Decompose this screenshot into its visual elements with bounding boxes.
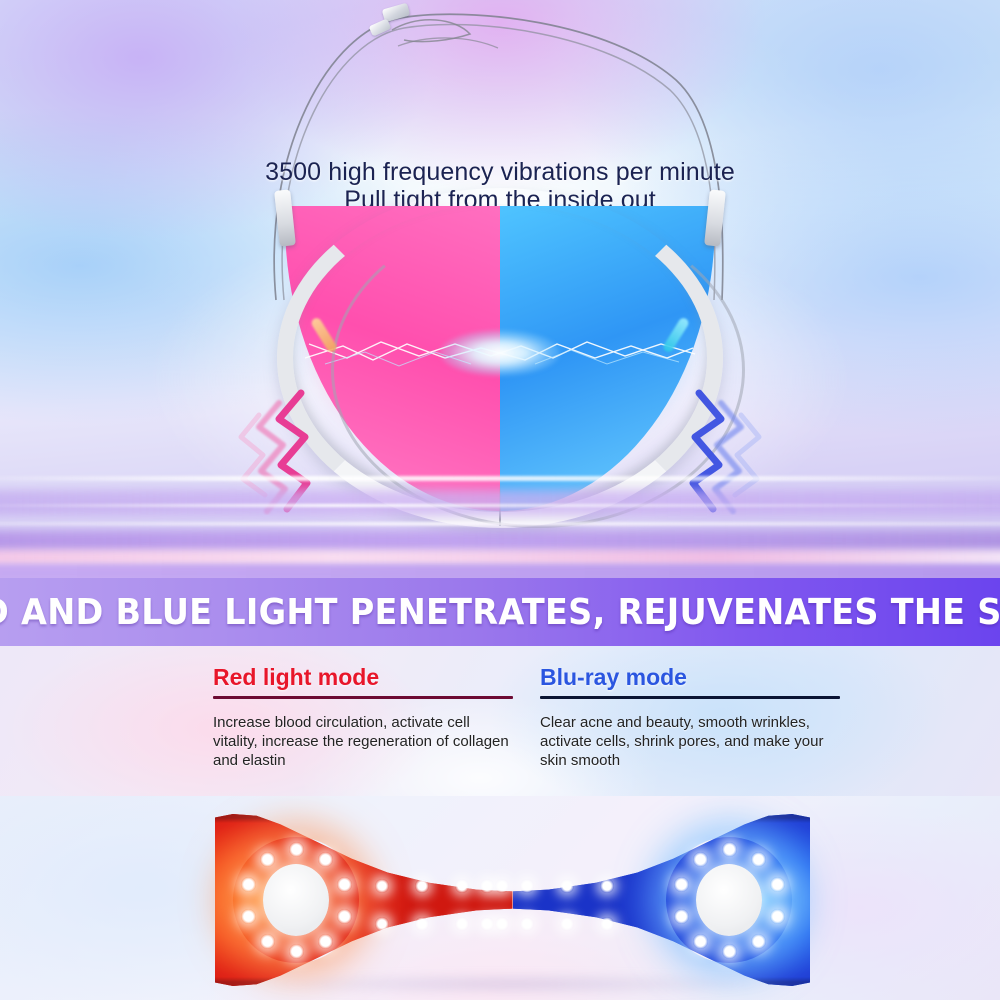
device-left-tip: [274, 189, 296, 246]
led-dot: [674, 877, 689, 892]
mode-rule-blue: [540, 696, 840, 699]
led-dot: [560, 879, 574, 893]
mode-description-blue: Clear acne and beauty, smooth wrinkles, …: [540, 713, 840, 770]
led-dot: [455, 917, 469, 931]
led-dot: [520, 917, 534, 931]
banner-text: RED AND BLUE LIGHT PENETRATES, REJUVENAT…: [0, 592, 1000, 633]
led-ring-red: [233, 837, 359, 963]
led-dot: [693, 852, 708, 867]
led-grid-blue: [480, 865, 650, 935]
led-ring-blue: [666, 837, 792, 963]
led-dot: [289, 842, 304, 857]
led-dot: [241, 909, 256, 924]
led-dot: [600, 879, 614, 893]
led-dot: [455, 879, 469, 893]
led-ring-center-red: [263, 864, 329, 936]
led-dot: [415, 917, 429, 931]
led-light-panel: [215, 814, 810, 986]
led-dot: [480, 879, 494, 893]
device-right-tip: [704, 189, 726, 246]
led-ring-center-blue: [696, 864, 762, 936]
led-dot: [375, 879, 389, 893]
led-dot: [337, 877, 352, 892]
product-infographic: 3500 high frequency vibrations per minut…: [0, 0, 1000, 1000]
led-dot: [722, 944, 737, 959]
led-dot: [337, 909, 352, 924]
led-dot: [415, 879, 429, 893]
led-dot: [318, 934, 333, 949]
led-dot: [722, 842, 737, 857]
led-dot: [520, 879, 534, 893]
led-dot: [260, 852, 275, 867]
led-panel-section: [0, 796, 1000, 1000]
led-dot: [751, 934, 766, 949]
led-dot: [674, 909, 689, 924]
led-dot: [770, 877, 785, 892]
mode-title-blue: Blu-ray mode: [540, 664, 840, 690]
led-dot: [318, 852, 333, 867]
mode-rule-red: [213, 696, 513, 699]
led-dot: [770, 909, 785, 924]
led-dot: [289, 944, 304, 959]
mode-column-red: Red light mode Increase blood circulatio…: [213, 664, 513, 770]
led-dot: [693, 934, 708, 949]
led-dot: [560, 917, 574, 931]
led-dot: [751, 852, 766, 867]
led-dot: [260, 934, 275, 949]
light-modes-section: Red light mode Increase blood circulatio…: [0, 646, 1000, 796]
mode-title-red: Red light mode: [213, 664, 513, 690]
hero-section: 3500 high frequency vibrations per minut…: [0, 0, 1000, 578]
mode-column-blue: Blu-ray mode Clear acne and beauty, smoo…: [540, 664, 840, 770]
motion-streak-bands: [0, 470, 1000, 578]
led-dot: [600, 917, 614, 931]
headline-banner: RED AND BLUE LIGHT PENETRATES, REJUVENAT…: [0, 578, 1000, 646]
headline-vibrations: 3500 high frequency vibrations per minut…: [0, 157, 1000, 188]
mode-description-red: Increase blood circulation, activate cel…: [213, 713, 513, 770]
led-dot: [480, 917, 494, 931]
led-dot: [375, 917, 389, 931]
led-dot: [241, 877, 256, 892]
